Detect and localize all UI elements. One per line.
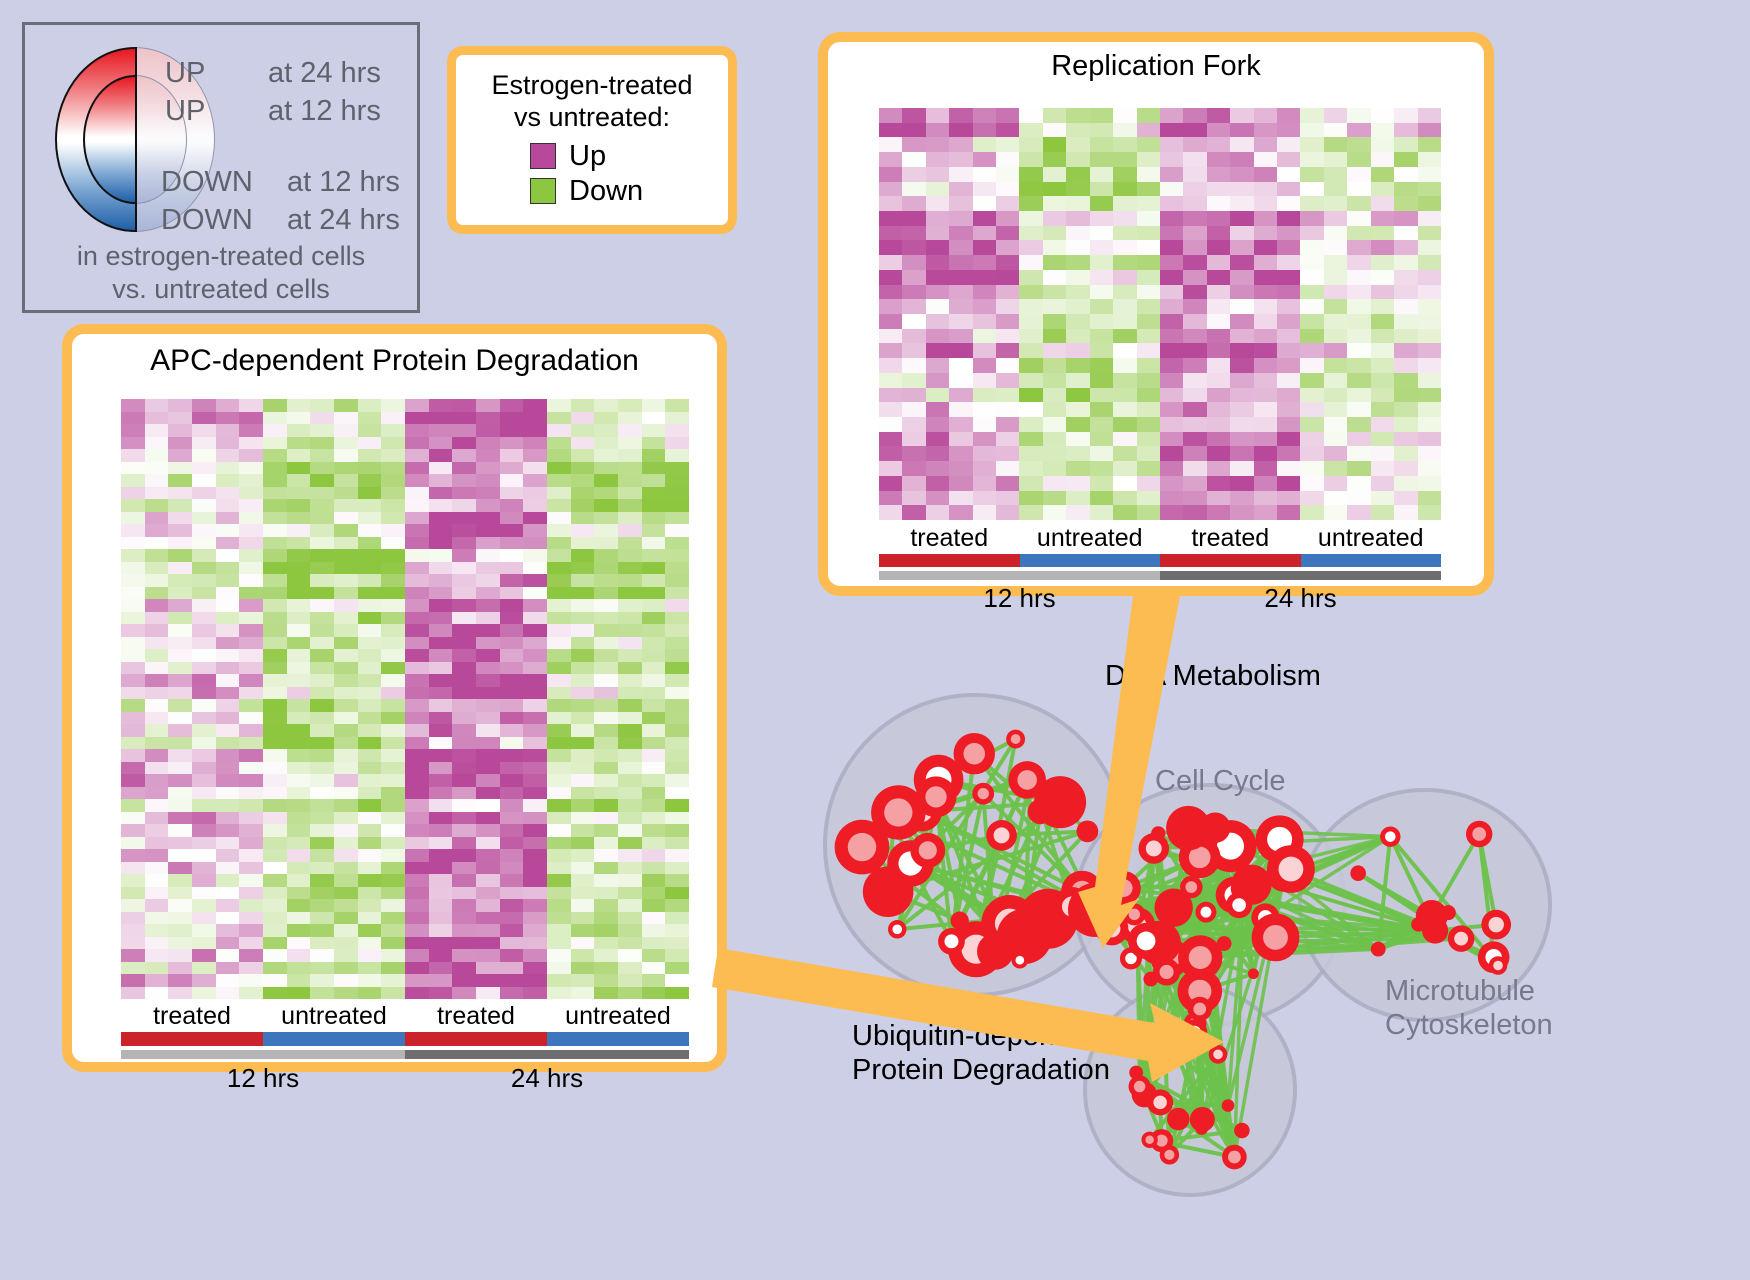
heatmap-cell (642, 524, 666, 537)
heatmap-cell (263, 649, 287, 662)
heatmap-cell (145, 949, 169, 962)
heatmap-cell (1066, 417, 1089, 432)
heatmap-cell (263, 737, 287, 750)
heatmap-cell (263, 524, 287, 537)
heatmap-cell (1019, 476, 1042, 491)
network-node-core (1493, 961, 1503, 971)
heatmap-cell (594, 887, 618, 900)
heatmap-cell (594, 662, 618, 675)
heatmap-cell (192, 899, 216, 912)
heatmap-cell (216, 624, 240, 637)
legend-direction-up-12: UP (165, 95, 205, 128)
heatmap-cell (1066, 137, 1089, 152)
heatmap-cell (523, 599, 547, 612)
heatmap-cell (594, 649, 618, 662)
heatmap-cell (1113, 167, 1136, 182)
heatmap-cell (429, 824, 453, 837)
heatmap-cell (358, 437, 382, 450)
heatmap-cell (1066, 388, 1089, 403)
heatmap-cell (145, 699, 169, 712)
network-node-core (978, 788, 989, 799)
heatmap-cell (239, 799, 263, 812)
heatmap-cell (1183, 388, 1206, 403)
heatmap-cell (973, 152, 996, 167)
network-node-core (884, 798, 912, 826)
heatmap-cell (334, 849, 358, 862)
heatmap-cell (429, 437, 453, 450)
heatmap-cell (1160, 432, 1183, 447)
heatmap-cell (500, 899, 524, 912)
heatmap-cell (216, 549, 240, 562)
heatmap-cell (358, 762, 382, 775)
heatmap-cell (1160, 476, 1183, 491)
heatmap-cell (358, 774, 382, 787)
heatmap-cell (1090, 417, 1113, 432)
heatmap-cell (523, 949, 547, 962)
heatmap-cell (642, 837, 666, 850)
heatmap-cell (642, 587, 666, 600)
heatmap-cell (1066, 343, 1089, 358)
heatmap-cell (310, 799, 334, 812)
heatmap-cell (263, 762, 287, 775)
heatmap-cell (263, 962, 287, 975)
heatmap-cell (334, 524, 358, 537)
heatmap-cell (381, 799, 405, 812)
heatmap-cell (500, 512, 524, 525)
heatmap-cell (1066, 329, 1089, 344)
heatmap-cell (168, 924, 192, 937)
heatmap-cell (145, 887, 169, 900)
heatmap-cell (1324, 152, 1347, 167)
heatmap-cell (1066, 152, 1089, 167)
heatmap-cell (192, 524, 216, 537)
heatmap-cell (192, 937, 216, 950)
heatmap-cell (476, 412, 500, 425)
heatmap-cell (902, 461, 925, 476)
heatmap-cell (334, 449, 358, 462)
heatmap-cell (168, 949, 192, 962)
heatmap-cell (310, 499, 334, 512)
network-node-core (919, 841, 937, 859)
heatmap-cell (1347, 108, 1370, 123)
heatmap-cell (216, 674, 240, 687)
heatmap-cell (1043, 299, 1066, 314)
heatmap-cell (523, 649, 547, 662)
heatmap-cell (429, 987, 453, 1000)
heatmap-cell (287, 574, 311, 587)
heatmap-cell (216, 774, 240, 787)
heatmap-cell (949, 505, 972, 520)
heatmap-cell (334, 487, 358, 500)
heatmap-cell (216, 974, 240, 987)
heatmap-cell (429, 799, 453, 812)
heatmap-cell (121, 774, 145, 787)
heatmap-cell (1347, 270, 1370, 285)
heatmap-cell (405, 824, 429, 837)
heatmap-cell (216, 749, 240, 762)
heatmap-cell (1347, 152, 1370, 167)
heatmap-cell (594, 924, 618, 937)
heatmap-cell (949, 226, 972, 241)
heatmap-cell (452, 687, 476, 700)
heatmap-cell (1230, 211, 1253, 226)
heatmap-cell (452, 962, 476, 975)
heatmap-cell (1277, 211, 1300, 226)
heatmap-cell (1418, 343, 1441, 358)
heatmap-cell (452, 537, 476, 550)
heatmap-cell (476, 937, 500, 950)
heatmap-cell (1394, 402, 1417, 417)
heatmap-cell (618, 724, 642, 737)
heatmap-cell (121, 749, 145, 762)
heatmap-cell (216, 537, 240, 550)
heatmap-cell (358, 524, 382, 537)
heatmap-cell (1113, 137, 1136, 152)
heatmap-cell (1183, 211, 1206, 226)
heatmap-cell (216, 462, 240, 475)
heatmap-cell (618, 924, 642, 937)
network-node-core (1279, 857, 1304, 882)
heatmap-cell (523, 812, 547, 825)
heatmap-cell (926, 270, 949, 285)
heatmap-cell (452, 887, 476, 900)
heatmap-cell (381, 837, 405, 850)
heatmap-cell (523, 912, 547, 925)
heatmap-cell (168, 712, 192, 725)
heatmap-cell (310, 637, 334, 650)
network-node-core (986, 942, 1005, 961)
heatmap-cell (452, 449, 476, 462)
heatmap-cell (996, 108, 1019, 123)
heatmap-cell (1418, 167, 1441, 182)
time-label-24-replication: 24 hrs (1160, 583, 1441, 614)
heatmap-cell (1254, 240, 1277, 255)
heatmap-cell (949, 182, 972, 197)
heatmap-cell (405, 887, 429, 900)
heatmap-cell (973, 388, 996, 403)
heatmap-cell (1113, 329, 1136, 344)
heatmap-cell (1300, 446, 1323, 461)
heatmap-cell (1090, 329, 1113, 344)
network-node-core (1185, 881, 1197, 893)
heatmap-cell (1418, 476, 1441, 491)
heatmap-cell (216, 587, 240, 600)
panel-title-apc: APC-dependent Protein Degradation (72, 344, 717, 378)
heatmap-cell (1137, 343, 1160, 358)
heatmap-cell (879, 388, 902, 403)
heatmap-cell (310, 662, 334, 675)
heatmap-cell (547, 399, 571, 412)
heatmap-cell (1418, 388, 1441, 403)
heatmap-cell (1371, 505, 1394, 520)
heatmap-cell (287, 624, 311, 637)
heatmap-cell (1277, 314, 1300, 329)
network-node-core (1228, 1151, 1241, 1164)
heatmap-cell (452, 737, 476, 750)
heatmap-cell (168, 537, 192, 550)
heatmap-cell (1066, 108, 1089, 123)
heatmap-cell (192, 587, 216, 600)
heatmap-cell (926, 358, 949, 373)
heatmap-cell (239, 524, 263, 537)
heatmap-cell (1090, 255, 1113, 270)
heatmap-cell (239, 887, 263, 900)
cluster-label-dna-metabolism: DNA Metabolism (1105, 660, 1321, 694)
heatmap-cell (973, 358, 996, 373)
heatmap-cell (996, 240, 1019, 255)
heatmap-cell (239, 424, 263, 437)
heatmap-cell (571, 749, 595, 762)
heatmap-cell (902, 108, 925, 123)
heatmap-cell (1324, 446, 1347, 461)
heatmap-cell (1418, 299, 1441, 314)
heatmap-cell (263, 687, 287, 700)
heatmap-cell (500, 862, 524, 875)
heatmap-cell (949, 299, 972, 314)
heatmap-cell (145, 899, 169, 912)
heatmap-cell (405, 762, 429, 775)
heatmap-cell (949, 343, 972, 358)
heatmap-cell (192, 624, 216, 637)
heatmap-cell (452, 762, 476, 775)
heatmap-cell (358, 824, 382, 837)
heatmap-cell (949, 402, 972, 417)
heatmap-cell (452, 949, 476, 962)
heatmap-cell (1160, 402, 1183, 417)
heatmap-cell (476, 699, 500, 712)
heatmap-cell (618, 512, 642, 525)
heatmap-cell (902, 329, 925, 344)
heatmap-cell (310, 512, 334, 525)
heatmap-cell (239, 649, 263, 662)
heatmap-cell (1300, 388, 1323, 403)
heatmap-cell (1371, 373, 1394, 388)
heatmap-cell (1160, 388, 1183, 403)
heatmap-cell (618, 849, 642, 862)
heatmap-cell (618, 599, 642, 612)
heatmap-cell (571, 462, 595, 475)
heatmap-cell (1160, 461, 1183, 476)
heatmap-cell (287, 674, 311, 687)
heatmap-cell (287, 874, 311, 887)
heatmap-cell (429, 774, 453, 787)
heatmap-cell (973, 196, 996, 211)
heatmap-cell (547, 874, 571, 887)
network-node (1143, 972, 1158, 987)
heatmap-cell (216, 412, 240, 425)
heatmap-cell (618, 687, 642, 700)
heatmap-cell (334, 762, 358, 775)
heatmap-cell (239, 949, 263, 962)
heatmap-cell (547, 724, 571, 737)
heatmap-cell (381, 549, 405, 562)
heatmap-cell (429, 699, 453, 712)
heatmap-cell (216, 699, 240, 712)
heatmap-cell (358, 649, 382, 662)
heatmap-cell (949, 152, 972, 167)
heatmap-cell (192, 499, 216, 512)
heatmap-cell (216, 924, 240, 937)
heatmap-cell (121, 862, 145, 875)
heatmap-cell (1183, 152, 1206, 167)
heatmap-cell (1137, 211, 1160, 226)
heatmap-cell (216, 787, 240, 800)
heatmap-cell (902, 432, 925, 447)
heatmap-cell (381, 749, 405, 762)
heatmap-cell (547, 612, 571, 625)
heatmap-cell (1324, 373, 1347, 388)
heatmap-cell (310, 462, 334, 475)
heatmap-cell (1160, 343, 1183, 358)
heatmap-cell (310, 562, 334, 575)
heatmap-cell (926, 108, 949, 123)
heatmap-cell (121, 474, 145, 487)
heatmap-cell (973, 226, 996, 241)
heatmap-cell (121, 712, 145, 725)
heatmap-cell (996, 182, 1019, 197)
heatmap-cell (168, 724, 192, 737)
heatmap-cell (287, 487, 311, 500)
heatmap-cell (500, 699, 524, 712)
heatmap-cell (1207, 108, 1230, 123)
heatmap-cell (239, 912, 263, 925)
heatmap-cell (476, 674, 500, 687)
heatmap-cell (239, 899, 263, 912)
heatmap-cell (358, 749, 382, 762)
heatmap-cell (476, 587, 500, 600)
heatmap-cell (1277, 270, 1300, 285)
heatmap-cell (1371, 299, 1394, 314)
heatmap-cell (1160, 152, 1183, 167)
heatmap-cell (358, 474, 382, 487)
heatmap-cell (145, 724, 169, 737)
heatmap-cell (145, 574, 169, 587)
heatmap-cell (121, 799, 145, 812)
heatmap-cell (1137, 446, 1160, 461)
heatmap-cell (381, 587, 405, 600)
network-node-core (1241, 874, 1262, 895)
heatmap-cell (358, 724, 382, 737)
heatmap-cell (287, 412, 311, 425)
heatmap-cell (1254, 182, 1277, 197)
heatmap-cell (594, 974, 618, 987)
heatmap-cell (216, 737, 240, 750)
heatmap-cell (500, 712, 524, 725)
heatmap-cell (476, 849, 500, 862)
heatmap-cell (310, 887, 334, 900)
heatmap-cell (381, 562, 405, 575)
heatmap-cell (1394, 358, 1417, 373)
heatmap-cell (216, 724, 240, 737)
heatmap-cell (1347, 343, 1370, 358)
heatmap-cell (618, 862, 642, 875)
heatmap-cell (452, 912, 476, 925)
heatmap-cell (1371, 388, 1394, 403)
heatmap-cell (902, 240, 925, 255)
heatmap-cell (216, 437, 240, 450)
heatmap-cell (1019, 226, 1042, 241)
heatmap-cell (926, 491, 949, 506)
heatmap-cell (310, 649, 334, 662)
heatmap-cell (571, 612, 595, 625)
heatmap-cell (571, 949, 595, 962)
heatmap-cell (452, 562, 476, 575)
heatmap-cell (239, 974, 263, 987)
heatmap-cell (1207, 123, 1230, 138)
heatmap-cell (500, 624, 524, 637)
heatmap-cell (429, 662, 453, 675)
heatmap-cell (547, 949, 571, 962)
network-node-core (1081, 896, 1109, 924)
heatmap-cell (239, 774, 263, 787)
heatmap-cell (500, 462, 524, 475)
heatmap-cell (902, 388, 925, 403)
heatmap-cell (1394, 285, 1417, 300)
heatmap-cell (1371, 108, 1394, 123)
heatmap-cell (1300, 211, 1323, 226)
heatmap-cell (192, 987, 216, 1000)
heatmap-cell (192, 549, 216, 562)
heatmap-cell (1371, 461, 1394, 476)
heatmap-cell (1394, 240, 1417, 255)
heatmap-cell (1254, 343, 1277, 358)
heatmap-cell (476, 574, 500, 587)
heatmap-cell (1090, 285, 1113, 300)
heatmap-cell (500, 837, 524, 850)
heatmap-cell (571, 987, 595, 1000)
heatmap-cell (192, 462, 216, 475)
heatmap-cell (476, 537, 500, 550)
heatmap-cell (192, 449, 216, 462)
heatmap-cell (429, 724, 453, 737)
heatmap-cell (902, 167, 925, 182)
heatmap-cell (287, 774, 311, 787)
heatmap-cell (192, 562, 216, 575)
heatmap-cell (263, 837, 287, 850)
legend-direction-up-24: UP (165, 57, 205, 90)
heatmap-cell (358, 612, 382, 625)
heatmap-cell (476, 974, 500, 987)
heatmap-cell (263, 974, 287, 987)
heatmap-cell (287, 599, 311, 612)
heatmap-cell (1347, 491, 1370, 506)
heatmap-cell (1066, 491, 1089, 506)
heatmap-cell (571, 499, 595, 512)
heatmap-cell (310, 474, 334, 487)
heatmap-cell (1113, 358, 1136, 373)
heatmap-cell (1043, 255, 1066, 270)
heatmap-cell (1277, 299, 1300, 314)
heatmap-cell (263, 774, 287, 787)
heatmap-cell (1207, 167, 1230, 182)
heatmap-cell (1113, 182, 1136, 197)
heatmap-cell (405, 449, 429, 462)
heatmap-cell (547, 987, 571, 1000)
heatmap-cell (1371, 226, 1394, 241)
heatmap-cell (452, 487, 476, 500)
heatmap-cell (665, 412, 689, 425)
heatmap-cell (452, 874, 476, 887)
heatmap-cell (263, 549, 287, 562)
heatmap-cell (358, 599, 382, 612)
heatmap-cell (523, 537, 547, 550)
heatmap-cell (239, 549, 263, 562)
heatmap-cell (263, 424, 287, 437)
heatmap-cell (618, 787, 642, 800)
heatmap-cell (405, 862, 429, 875)
heatmap-cell (121, 887, 145, 900)
heatmap-cell (452, 462, 476, 475)
